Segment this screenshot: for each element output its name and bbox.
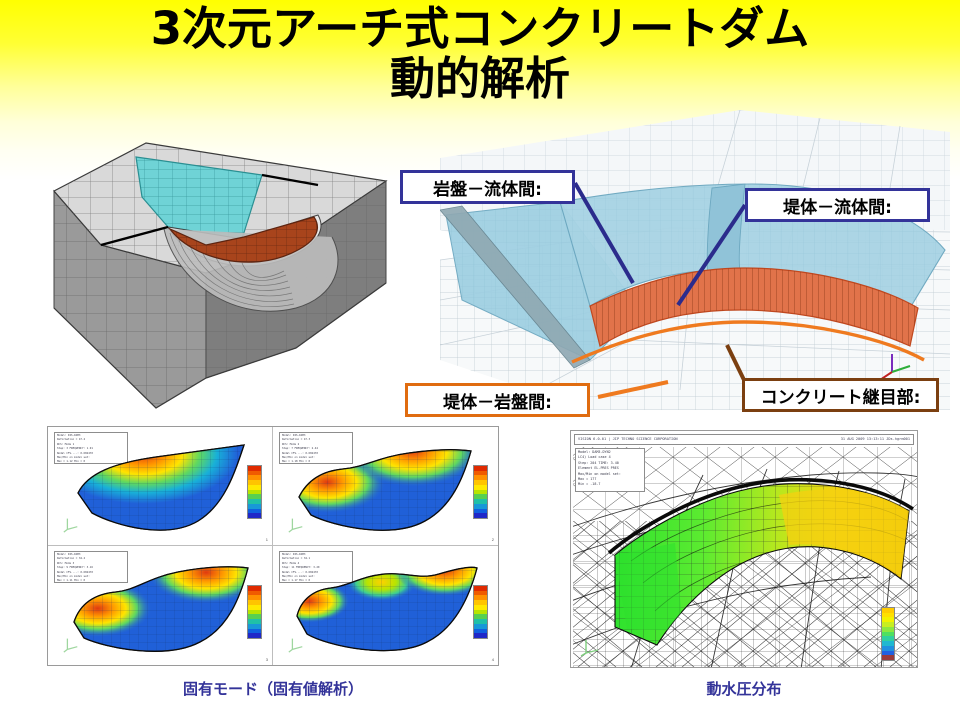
axis-triad-icon-pressure — [579, 635, 601, 657]
mode-cell-2[interactable]: Model: DIS-DAM3 Deformation = 47.3 RCS: … — [273, 427, 498, 546]
callout-dam-rock[interactable]: 堤体－岩盤間: — [405, 383, 590, 417]
pressure-info-box: Model: DAM3-DYN2 LC4) Load case 4 Step: … — [575, 448, 645, 492]
reservoir-mesh-svg — [440, 110, 950, 410]
callout-concrete-joint-label: コンクリート継目部: — [761, 383, 921, 408]
mode-shape-2-svg — [273, 427, 498, 546]
mode-legend-2 — [473, 465, 488, 519]
caption-modes: 固有モード（固有値解析） — [47, 678, 499, 699]
callout-rock-fluid[interactable]: 岩盤－流体間: — [400, 170, 575, 204]
mode-cell-4[interactable]: Model: DIS-DAM3 Deformation = 34.1 RCS: … — [273, 546, 498, 665]
callout-dam-fluid-label: 堤体－流体間: — [783, 193, 892, 218]
reservoir-fluid-mesh-figure — [440, 110, 950, 410]
callout-rock-fluid-label: 岩盤－流体間: — [433, 175, 542, 200]
axis-triad-icon-1 — [62, 515, 80, 533]
valley-rock-mesh-figure — [46, 133, 446, 423]
mode-shape-1-svg — [48, 427, 273, 546]
page-title: 3次元アーチ式コンクリートダム 動的解析 — [0, 4, 960, 104]
pressure-distribution-panel[interactable]: VISION 6.0-01 | JIP TECHNO SCIENCE CORPO… — [570, 430, 918, 668]
mode-legend-3 — [247, 585, 262, 639]
mode-shape-3-svg — [48, 546, 273, 665]
mode-index-4: 4 — [492, 657, 494, 662]
slide-root: 3次元アーチ式コンクリートダム 動的解析 — [0, 0, 960, 720]
callout-dam-fluid[interactable]: 堤体－流体間: — [745, 188, 930, 222]
caption-pressure: 動水圧分布 — [570, 678, 918, 699]
mode-legend-1 — [247, 465, 262, 519]
mode-cell-3[interactable]: Model: DIS-DAM3 Deformation = 34.4 RCS: … — [48, 546, 273, 665]
mode-shape-4-svg — [273, 546, 498, 665]
mode-index-2: 2 — [492, 537, 494, 542]
mode-legend-4 — [473, 585, 488, 639]
axis-triad-icon-4 — [287, 635, 305, 653]
axis-triad-icon-2 — [287, 515, 305, 533]
pressure-legend — [881, 607, 895, 661]
callout-concrete-joint[interactable]: コンクリート継目部: — [742, 378, 939, 412]
callout-dam-rock-label: 堤体－岩盤間: — [443, 388, 552, 413]
mode-index-3: 3 — [266, 657, 268, 662]
mode-index-1: 1 — [266, 537, 268, 542]
mode-shape-panel: Model: DIS-DAM3 Deformation = 47.4 RCS: … — [47, 426, 499, 666]
valley-mesh-svg — [46, 133, 446, 423]
mode-cell-1[interactable]: Model: DIS-DAM3 Deformation = 47.4 RCS: … — [48, 427, 273, 546]
axis-triad-icon-3 — [62, 635, 80, 653]
